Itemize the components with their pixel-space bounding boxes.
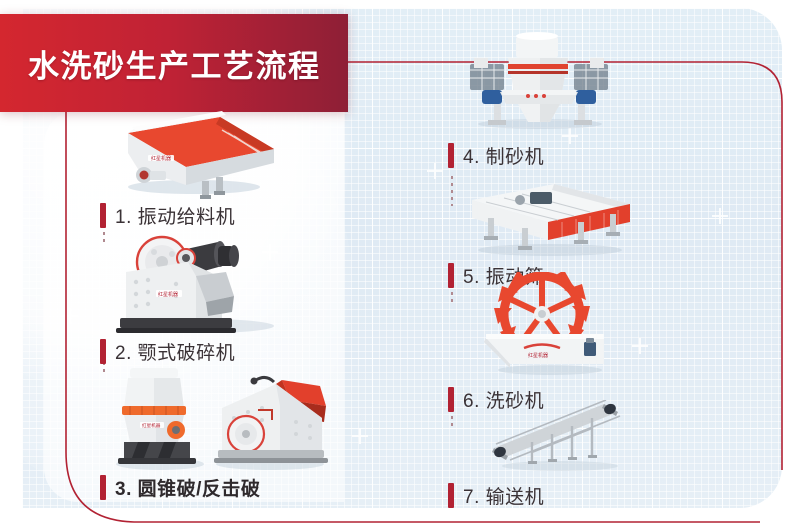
flow-label-text-4: 4. 制砂机 [463, 142, 544, 169]
sand-making-machine-image [456, 30, 624, 130]
screenshot-stage: 水洗砂生产工艺流程 [0, 0, 800, 530]
flow-label-text-1: 1. 振动给料机 [115, 202, 235, 229]
flow-connector-dots [451, 176, 453, 206]
jaw-crusher-image: 红星机器 [110, 232, 288, 336]
label-tick-marker [100, 203, 106, 228]
flow-label-text-3: 3. 圆锥破/反击破 [115, 474, 260, 501]
svg-text:红星机器: 红星机器 [158, 291, 178, 298]
flow-label-7: 7. 输送机 [448, 482, 544, 508]
vibrating-feeder-image: 红星机器 [102, 107, 282, 199]
flow-label-1: 1. 振动给料机 [100, 202, 235, 228]
label-tick-marker [448, 263, 454, 288]
label-tick-marker [448, 143, 454, 168]
page-title: 水洗砂生产工艺流程 [28, 41, 321, 86]
label-tick-marker [448, 483, 454, 508]
svg-text:红星机器: 红星机器 [528, 352, 548, 359]
sparkle-icon [562, 128, 578, 144]
cone-crusher-image: 红星机器 [104, 360, 214, 472]
svg-text:红星机器: 红星机器 [142, 422, 161, 429]
svg-text:红星机器: 红星机器 [151, 155, 171, 162]
vibrating-screen-image [458, 178, 638, 258]
belt-conveyor-image [486, 400, 636, 474]
title-banner: 水洗砂生产工艺流程 [0, 14, 348, 112]
label-tick-marker [448, 387, 454, 412]
sparkle-icon [712, 208, 728, 224]
sparkle-icon [352, 428, 368, 444]
flow-label-4: 4. 制砂机 [448, 142, 544, 168]
sand-washer-image: 红星机器 [480, 272, 620, 378]
sparkle-icon [632, 338, 648, 354]
impact-crusher-image [204, 368, 334, 472]
flow-label-3: 3. 圆锥破/反击破 [100, 474, 260, 500]
label-tick-marker [100, 475, 106, 500]
sparkle-icon [427, 163, 443, 179]
flow-label-text-7: 7. 输送机 [463, 482, 544, 509]
